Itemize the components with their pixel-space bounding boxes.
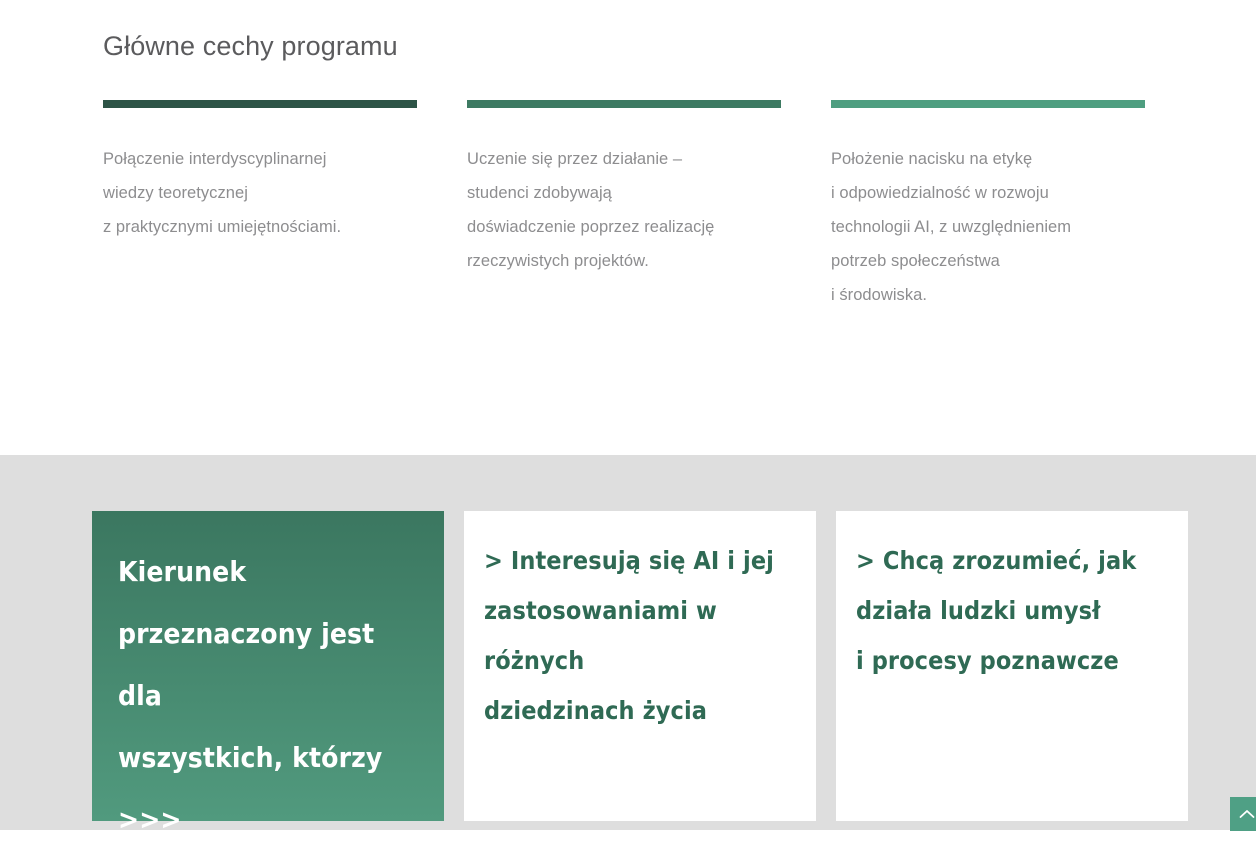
feature-accent-bar-3 — [831, 100, 1145, 108]
feature-column-2: Uczenie się przez działanie – studenci z… — [467, 100, 781, 329]
audience-cards-row: Kierunek przeznaczony jest dla wszystkic… — [92, 511, 1188, 821]
feature-column-3: Położenie nacisku na etykę i odpowiedzia… — [831, 100, 1145, 329]
chevron-up-icon — [1239, 809, 1255, 819]
page-root: Główne cechy programu Połączenie interdy… — [0, 0, 1256, 830]
page-title: Główne cechy programu — [103, 31, 398, 62]
features-grid: Połączenie interdyscyplinarnej wiedzy te… — [103, 100, 1145, 329]
feature-text-1: Połączenie interdyscyplinarnej wiedzy te… — [103, 142, 417, 244]
feature-column-1: Połączenie interdyscyplinarnej wiedzy te… — [103, 100, 417, 329]
scroll-to-top-button[interactable] — [1230, 797, 1256, 831]
audience-card-intro: Kierunek przeznaczony jest dla wszystkic… — [92, 511, 444, 821]
audience-card-2: > Chcą zrozumieć, jak działa ludzki umys… — [836, 511, 1188, 821]
feature-text-3: Położenie nacisku na etykę i odpowiedzia… — [831, 142, 1145, 312]
feature-accent-bar-1 — [103, 100, 417, 108]
audience-section: Kierunek przeznaczony jest dla wszystkic… — [0, 455, 1256, 830]
features-section: Główne cechy programu Połączenie interdy… — [0, 0, 1256, 455]
feature-text-2: Uczenie się przez działanie – studenci z… — [467, 142, 781, 278]
audience-card-1: > Interesują się AI i jej zastosowaniami… — [464, 511, 816, 821]
audience-card-1-text: > Interesują się AI i jej zastosowaniami… — [484, 536, 794, 736]
feature-accent-bar-2 — [467, 100, 781, 108]
audience-card-intro-text: Kierunek przeznaczony jest dla wszystkic… — [118, 541, 410, 851]
audience-card-2-text: > Chcą zrozumieć, jak działa ludzki umys… — [856, 536, 1166, 686]
